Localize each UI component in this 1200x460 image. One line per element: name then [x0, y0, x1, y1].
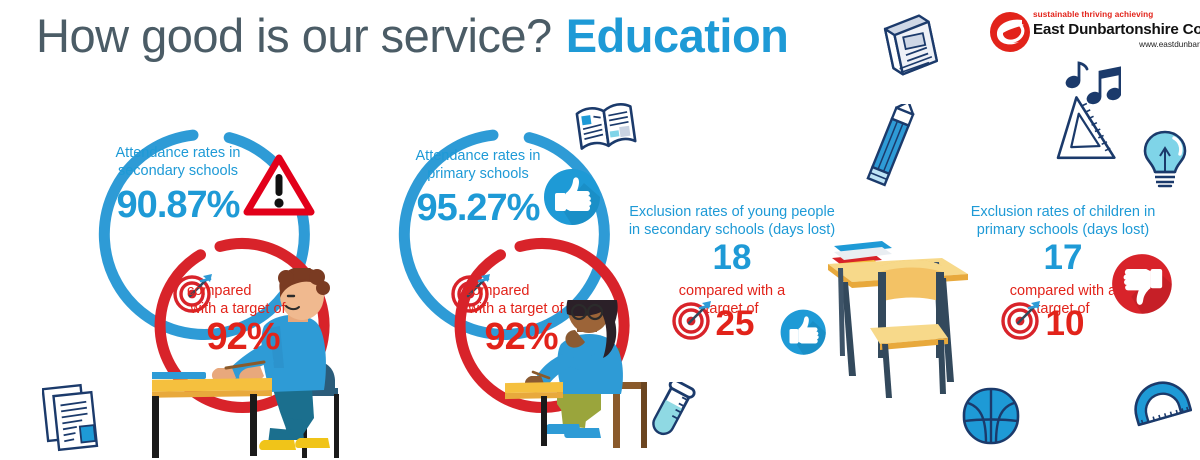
attendance-secondary-target-label: compared [187, 283, 307, 301]
attendance-primary-target-label: compared [465, 283, 585, 301]
attendance-secondary-target-value: 92% [168, 318, 318, 356]
thumbs-up-icon [542, 167, 604, 229]
infographic-canvas: How good is our service? Education susta… [0, 0, 1200, 460]
logo-tagline: sustainable thriving achieving [1033, 10, 1200, 20]
exclusion-secondary-value: 18 [627, 240, 837, 275]
logo-name: East Dunbartonshire Council [1033, 20, 1200, 39]
page-title-main: How good is our service? [36, 12, 552, 59]
documents-icon [42, 382, 108, 456]
warning-triangle-icon [243, 152, 315, 220]
attendance-primary-target-value: 92% [446, 318, 596, 356]
light-bulb-icon [1140, 128, 1190, 190]
exclusion-primary-label: Exclusion rates of children in primary s… [958, 203, 1168, 239]
page-title-accent: Education [566, 12, 789, 59]
council-logo-mark [988, 10, 1032, 54]
exclusion-secondary-label: Exclusion rates of young people in secon… [627, 203, 837, 239]
pencil-icon [856, 104, 922, 196]
thumbs-up-icon [779, 308, 829, 358]
council-logo[interactable]: sustainable thriving achieving East Dunb… [988, 10, 1193, 56]
closed-book-icon [876, 14, 946, 86]
page-title: How good is our service? Education [36, 12, 788, 59]
thumbs-down-icon [1110, 252, 1176, 318]
set-square-icon [1055, 95, 1125, 167]
exclusion-secondary-target-value: 25 [690, 306, 780, 341]
exclusion-primary-target-value: 10 [1020, 306, 1110, 341]
logo-url[interactable]: www.eastdunbarton.gov.uk [1033, 40, 1200, 51]
protractor-icon [1130, 378, 1192, 430]
